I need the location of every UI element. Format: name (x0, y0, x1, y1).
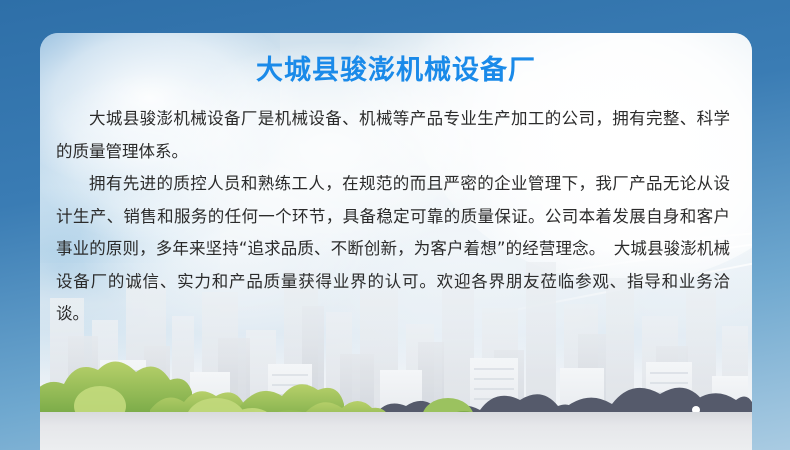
paragraph-1: 大城县骏澎机械设备厂是机械设备、机械等产品专业生产加工的公司，拥有完整、科学的质… (56, 103, 730, 168)
company-description: 大城县骏澎机械设备厂是机械设备、机械等产品专业生产加工的公司，拥有完整、科学的质… (40, 87, 752, 331)
paragraph-2: 拥有先进的质控人员和熟练工人，在规范的而且严密的企业管理下，我厂产品无论从设计生… (56, 168, 730, 331)
page-title: 大城县骏澎机械设备厂 (40, 33, 752, 87)
pavement-strip (40, 412, 752, 450)
company-profile-banner: 大城县骏澎机械设备厂 大城县骏澎机械设备厂是机械设备、机械等产品专业生产加工的公… (0, 0, 790, 450)
text-content: 大城县骏澎机械设备厂 大城县骏澎机械设备厂是机械设备、机械等产品专业生产加工的公… (40, 33, 752, 331)
banner-panel: 大城县骏澎机械设备厂 大城县骏澎机械设备厂是机械设备、机械等产品专业生产加工的公… (40, 33, 752, 450)
